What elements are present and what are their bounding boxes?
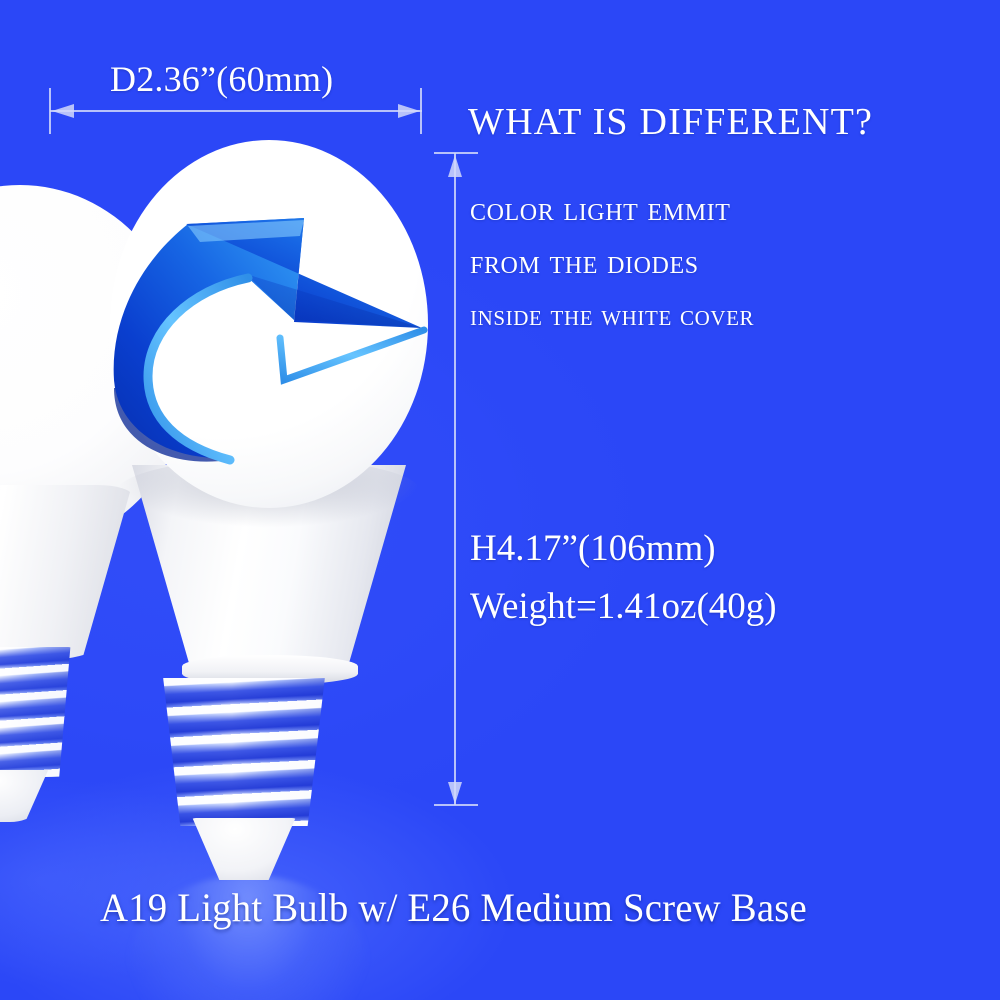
product-infographic: D2.36”(60mm) WHAT IS DIFFERENT? Color Li…	[0, 0, 1000, 1000]
description-line-3: inside the white cover	[470, 299, 754, 333]
height-extension-line-bottom	[434, 804, 478, 806]
description-line-2: from the DIODES	[470, 244, 699, 282]
curved-arrow-icon	[108, 210, 468, 475]
headline-question: WHAT IS DIFFERENT?	[468, 100, 873, 144]
bulb-front-screw-base	[158, 678, 330, 826]
height-extension-line-top	[434, 152, 478, 154]
height-label: H4.17”(106mm)	[470, 527, 716, 570]
diameter-label: D2.36”(60mm)	[110, 58, 333, 100]
arrow-up-icon	[448, 155, 462, 177]
diameter-dimension-line	[50, 110, 422, 112]
bulb-back-tip	[0, 770, 54, 822]
diameter-extension-line-right	[420, 88, 422, 134]
bulb-front-tip	[188, 818, 300, 880]
arrow-right-icon	[398, 104, 420, 118]
arrow-down-icon	[448, 782, 462, 804]
arrow-left-icon	[52, 104, 74, 118]
height-dimension-line	[454, 153, 456, 805]
description-line-1: Color Light Emmit	[470, 191, 731, 229]
weight-label: Weight=1.41oz(40g)	[470, 585, 777, 628]
bulb-back-screw-base	[0, 647, 76, 777]
base-type-caption: A19 Light Bulb w/ E26 Medium Screw Base	[100, 884, 807, 931]
diameter-extension-line-left	[49, 88, 51, 134]
